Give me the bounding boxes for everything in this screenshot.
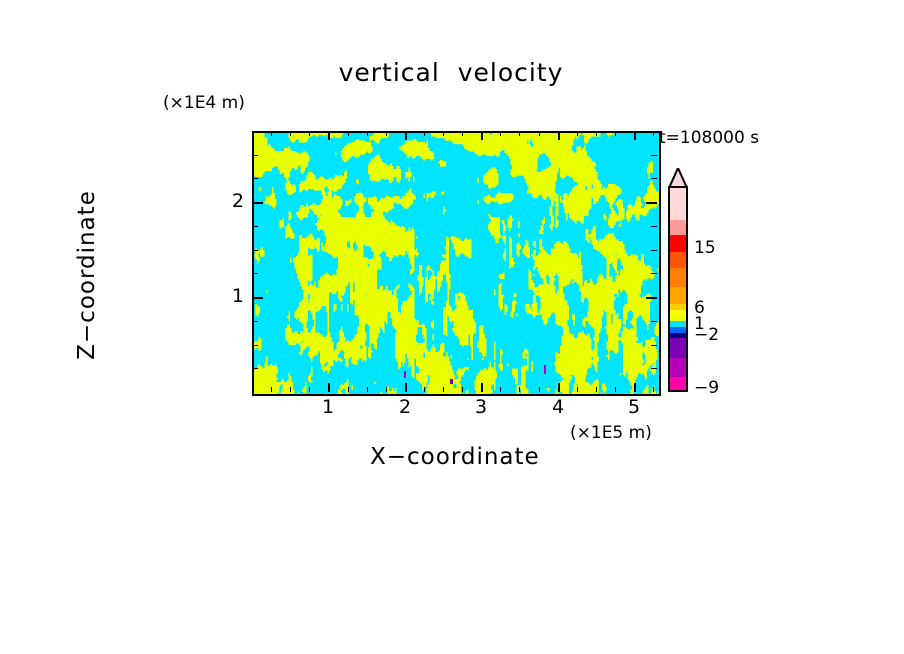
timestamp-annotation: t=108000 s <box>659 128 759 148</box>
colorbar-band <box>670 235 686 252</box>
x-axis-minor-tick <box>577 387 578 392</box>
x-axis-minor-tick <box>539 387 540 392</box>
x-axis-major-tick <box>558 383 560 392</box>
x-axis-minor-tick <box>271 387 272 392</box>
x-axis-major-tick-top <box>328 131 330 140</box>
x-axis-minor-tick <box>386 387 387 392</box>
y-axis-major-tick-right <box>646 297 657 299</box>
y-axis-minor-tick <box>252 321 258 322</box>
y-axis-minor-tick <box>252 250 258 251</box>
x-axis-minor-tick-top <box>290 131 291 136</box>
colorbar-band <box>670 220 686 236</box>
y-axis-minor-tick <box>252 368 258 369</box>
y-axis-major-tick <box>252 202 263 204</box>
x-axis-minor-tick <box>290 387 291 392</box>
x-axis-tick-label: 1 <box>308 396 348 418</box>
colorbar-arrow-icon <box>666 168 690 188</box>
x-axis-minor-tick-top <box>462 131 463 136</box>
x-axis-tick-label: 2 <box>385 396 425 418</box>
colorbar-band <box>670 358 686 377</box>
x-axis-minor-tick-top <box>309 131 310 136</box>
x-axis-minor-tick-top <box>386 131 387 136</box>
x-axis-title: X−coordinate <box>370 444 540 470</box>
plot-area <box>252 131 661 396</box>
colorbar <box>668 186 688 392</box>
y-axis-major-tick <box>252 297 263 299</box>
y-axis-minor-tick <box>252 273 258 274</box>
x-axis-minor-tick-top <box>539 131 540 136</box>
colorbar-band <box>670 287 686 304</box>
x-axis-minor-tick <box>462 387 463 392</box>
x-axis-major-tick <box>634 383 636 392</box>
x-axis-minor-tick <box>653 387 654 392</box>
x-axis-minor-tick-top <box>348 131 349 136</box>
y-axis-minor-tick-right <box>651 250 657 251</box>
y-axis-major-tick-right <box>646 202 657 204</box>
colorbar-band <box>670 377 686 390</box>
x-axis-major-tick-top <box>405 131 407 140</box>
x-axis-minor-tick-top <box>519 131 520 136</box>
x-axis-minor-tick-top <box>443 131 444 136</box>
y-axis-minor-tick-right <box>651 178 657 179</box>
x-axis-minor-tick <box>309 387 310 392</box>
x-axis-minor-tick <box>367 387 368 392</box>
x-axis-minor-tick-top <box>271 131 272 136</box>
x-axis-major-tick-top <box>634 131 636 140</box>
y-axis-minor-tick-right <box>651 226 657 227</box>
figure-canvas: vertical velocity (×1E4 m) t=108000 s (×… <box>0 0 904 654</box>
x-axis-minor-tick-top <box>500 131 501 136</box>
contour-field <box>254 133 659 394</box>
y-axis-minor-tick-right <box>651 273 657 274</box>
colorbar-tick-label: 15 <box>694 238 716 258</box>
y-axis-minor-tick <box>252 345 258 346</box>
x-axis-minor-tick <box>596 387 597 392</box>
colorbar-band <box>670 188 686 220</box>
colorbar-band <box>670 268 686 287</box>
y-axis-minor-tick <box>252 155 258 156</box>
y-axis-minor-tick-right <box>651 321 657 322</box>
y-axis-minor-tick <box>252 226 258 227</box>
x-axis-minor-tick <box>348 387 349 392</box>
x-axis-major-tick <box>405 383 407 392</box>
x-axis-minor-tick-top <box>367 131 368 136</box>
y-axis-tick-label: 1 <box>214 285 244 307</box>
x-axis-minor-tick-top <box>577 131 578 136</box>
x-axis-tick-label: 4 <box>538 396 578 418</box>
x-axis-minor-tick <box>443 387 444 392</box>
colorbar-band <box>670 252 686 268</box>
x-axis-major-tick <box>481 383 483 392</box>
y-axis-title: Z−coordinate <box>74 165 100 385</box>
x-axis-tick-label: 3 <box>461 396 501 418</box>
x-axis-minor-tick-top <box>596 131 597 136</box>
x-axis-minor-tick <box>424 387 425 392</box>
x-axis-unit-label: (×1E5 m) <box>570 423 652 443</box>
y-axis-minor-tick <box>252 178 258 179</box>
x-axis-tick-label: 5 <box>614 396 654 418</box>
x-axis-minor-tick <box>500 387 501 392</box>
x-axis-minor-tick <box>519 387 520 392</box>
x-axis-major-tick-top <box>481 131 483 140</box>
x-axis-minor-tick-top <box>653 131 654 136</box>
chart-title-text: vertical velocity <box>339 58 564 87</box>
x-axis-minor-tick-top <box>424 131 425 136</box>
x-axis-major-tick <box>328 383 330 392</box>
y-axis-minor-tick-right <box>651 155 657 156</box>
x-axis-major-tick-top <box>558 131 560 140</box>
colorbar-tick-label: −9 <box>694 378 719 398</box>
y-axis-unit-label: (×1E4 m) <box>163 93 245 113</box>
y-axis-tick-label: 2 <box>214 190 244 212</box>
y-axis-minor-tick-right <box>651 368 657 369</box>
x-axis-minor-tick-top <box>615 131 616 136</box>
chart-title: vertical velocity <box>0 58 904 87</box>
colorbar-tick-label: −2 <box>694 325 719 345</box>
colorbar-band <box>670 338 686 358</box>
y-axis-minor-tick-right <box>651 345 657 346</box>
x-axis-minor-tick <box>615 387 616 392</box>
